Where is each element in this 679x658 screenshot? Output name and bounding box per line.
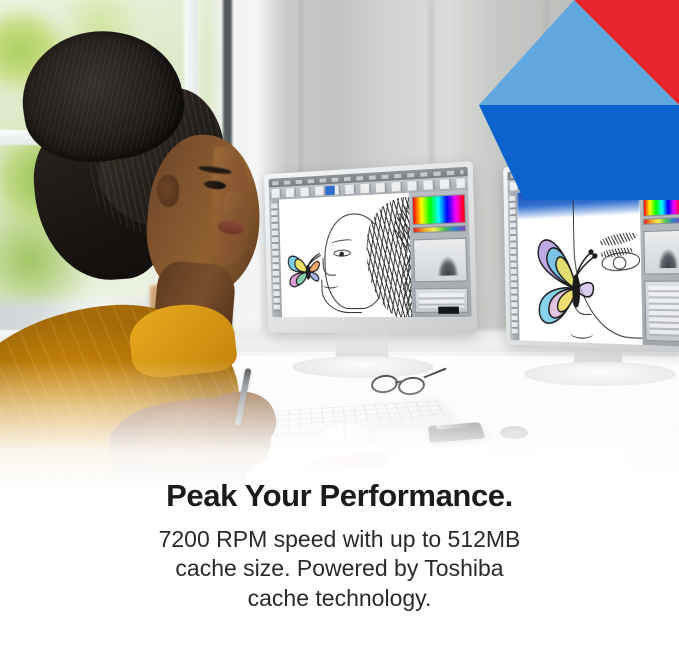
histogram-panel-right[interactable] <box>643 230 679 275</box>
color-swatch-strip-right[interactable] <box>643 217 679 225</box>
editor-canvas-right <box>517 184 643 345</box>
color-picker-panel-right[interactable] <box>642 185 679 216</box>
headline: Peak Your Performance. <box>0 478 679 515</box>
editor-dock-left[interactable] <box>409 190 472 317</box>
nose <box>224 191 246 219</box>
marketing-copy-block: Peak Your Performance. 7200 RPM speed wi… <box>0 478 679 614</box>
ear <box>157 175 179 207</box>
rainbow-butterfly-large-icon <box>529 222 614 342</box>
active-tool-indicator[interactable] <box>325 186 335 195</box>
layer-color-swatch[interactable] <box>438 307 459 314</box>
toshiba-product-banner: Peak Your Performance. 7200 RPM speed wi… <box>0 0 679 658</box>
editor-dock-right[interactable] <box>639 181 679 347</box>
monitor-left <box>264 161 477 333</box>
subcopy-line-1: 7200 RPM speed with up to 512MB <box>86 525 593 555</box>
photo-bottom-fade <box>0 360 679 490</box>
artwork-zoomed-butterfly <box>517 184 643 345</box>
color-swatch-strip[interactable] <box>413 225 467 233</box>
monitor-right-body <box>503 152 679 352</box>
monitor-left-screen <box>269 167 472 317</box>
layers-panel-right[interactable] <box>644 281 679 343</box>
wall-panel-seam-c <box>545 0 548 160</box>
monitor-right <box>503 152 679 352</box>
active-tool-indicator-right[interactable] <box>561 178 570 187</box>
monitor-right-screen <box>507 157 679 346</box>
lifestyle-photo <box>0 0 679 490</box>
artwork-iris <box>613 256 627 269</box>
rainbow-butterfly-icon <box>284 244 335 300</box>
artwork-line-portrait <box>279 193 412 317</box>
histogram-panel[interactable] <box>413 238 468 283</box>
editor-canvas-left <box>279 193 412 317</box>
artwork-pupil <box>339 252 344 257</box>
subcopy-line-2: cache size. Powered by Toshiba <box>86 554 593 584</box>
color-picker-panel[interactable] <box>412 194 466 225</box>
monitor-left-body <box>264 161 477 333</box>
subcopy-line-3: cache technology. <box>86 584 593 614</box>
subcopy: 7200 RPM speed with up to 512MB cache si… <box>0 525 679 615</box>
